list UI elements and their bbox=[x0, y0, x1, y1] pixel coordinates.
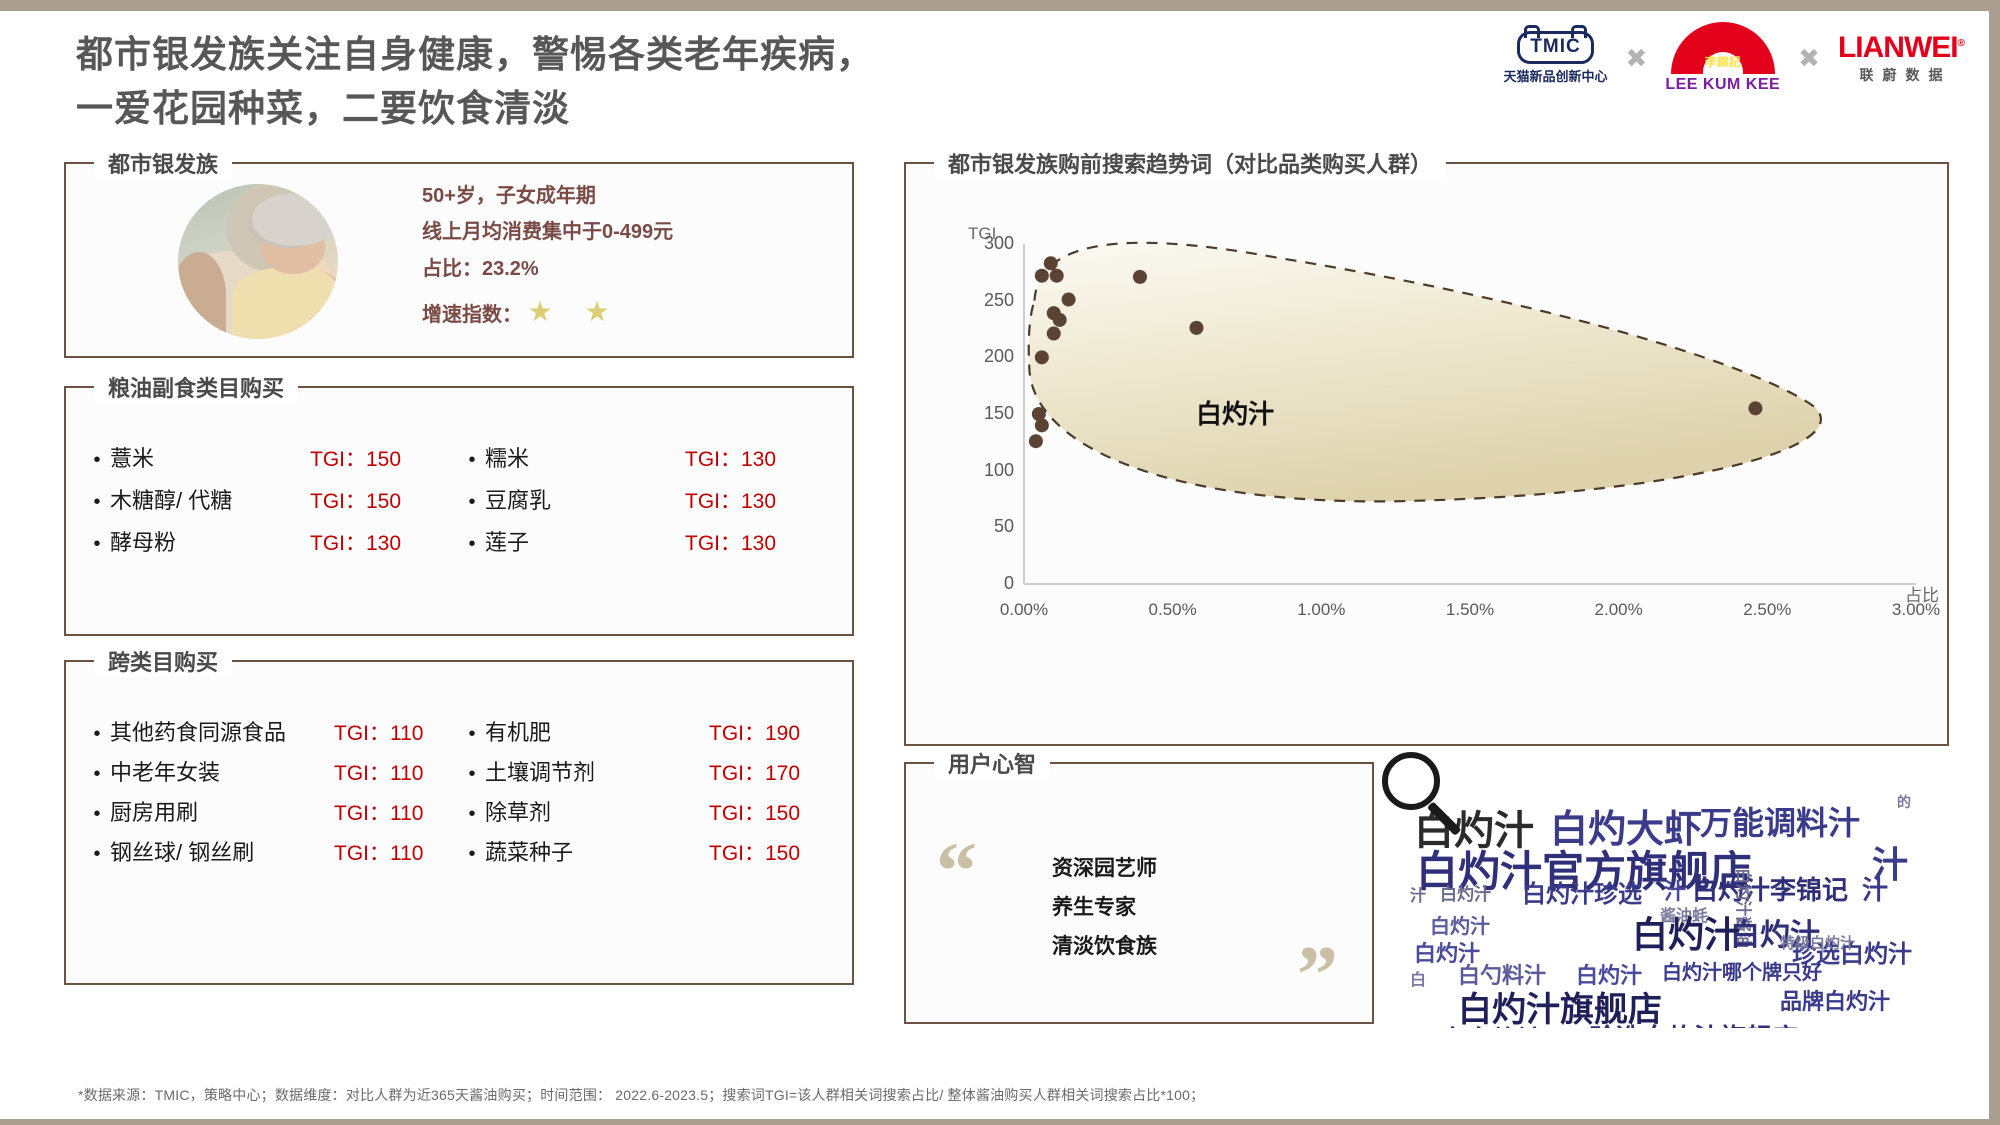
grain-category-panel: 粮油副食类目购买 •薏米TGI：150•木糖醇/ 代糖TGI：150•酵母粉TG… bbox=[64, 386, 854, 636]
item-tgi-value: TGI：150 bbox=[310, 491, 401, 512]
cloud-word: 白灼汁哪个牌只好 bbox=[1662, 956, 1822, 985]
list-item: •有机肥TGI：190 bbox=[459, 722, 834, 744]
scatter-point bbox=[1062, 293, 1076, 307]
bottom-frame-bar bbox=[0, 1119, 2000, 1125]
right-frame-bar bbox=[1989, 0, 2000, 1125]
lee-kum-kee-logo: 李錦記 LEE KUM KEE bbox=[1665, 22, 1780, 94]
bubble-region-label: 白灼汁 bbox=[1196, 394, 1274, 431]
item-name: 钢丝球/ 钢丝刷 bbox=[110, 842, 334, 864]
cloud-word: 白 bbox=[1410, 966, 1426, 990]
list-item: •糯米TGI：130 bbox=[459, 448, 834, 470]
y-axis-tick: 100 bbox=[968, 460, 1014, 481]
title-line-2: 一爱花园种菜，二要饮食清淡 bbox=[76, 82, 1176, 136]
x-axis-tick: 0.50% bbox=[1128, 600, 1218, 620]
scatter-chart: TGI 占比 白灼汁 050100150200250300 0.00%0.50%… bbox=[906, 216, 1947, 736]
item-tgi-value: TGI：110 bbox=[334, 723, 423, 744]
item-name: 中老年女装 bbox=[110, 762, 334, 784]
item-tgi-value: TGI：110 bbox=[334, 803, 423, 824]
bullet-icon: • bbox=[84, 764, 110, 784]
item-tgi-value: TGI：110 bbox=[334, 763, 423, 784]
lianwei-chinese-name: 联蔚数据 bbox=[1859, 65, 1951, 85]
item-tgi-value: TGI：130 bbox=[685, 449, 776, 470]
cloud-word: 汁 bbox=[1862, 870, 1888, 907]
cloud-word: 特级白灼汁 bbox=[1780, 932, 1855, 953]
bullet-icon: • bbox=[84, 492, 110, 512]
item-tgi-value: TGI：170 bbox=[709, 763, 800, 784]
bullet-icon: • bbox=[84, 844, 110, 864]
profile-details: 50+岁，子女成年期 线上月均消费集中于0-499元 占比：23.2% 增速指数… bbox=[422, 178, 673, 338]
item-name: 有机肥 bbox=[485, 722, 709, 744]
item-name: 木糖醇/ 代糖 bbox=[110, 490, 310, 512]
list-item: •木糖醇/ 代糖TGI：150 bbox=[84, 490, 459, 512]
x-axis-tick: 0.00% bbox=[979, 600, 1069, 620]
item-tgi-value: TGI：150 bbox=[709, 843, 800, 864]
y-axis-tick: 250 bbox=[968, 290, 1014, 311]
grain-left-column: •薏米TGI：150•木糖醇/ 代糖TGI：150•酵母粉TGI：130 bbox=[84, 448, 459, 634]
lianwei-wordmark: LIANWEI® bbox=[1838, 31, 1964, 65]
chart-panel-title: 都市银发族购前搜索趋势词（对比品类购买人群） bbox=[934, 147, 1446, 179]
list-item: •土壤调节剂TGI：170 bbox=[459, 762, 834, 784]
item-tgi-value: TGI：130 bbox=[685, 491, 776, 512]
scatter-point bbox=[1047, 327, 1061, 341]
y-axis-tick: 50 bbox=[968, 516, 1014, 537]
bullet-icon: • bbox=[84, 724, 110, 744]
cloud-word: 的 bbox=[1897, 792, 1911, 812]
item-tgi-value: TGI：130 bbox=[310, 533, 401, 554]
x-axis-tick: 2.00% bbox=[1574, 600, 1664, 620]
growth-star-rating: ★ ★ bbox=[528, 296, 622, 327]
lkk-chinese-name: 李錦記 bbox=[1705, 53, 1741, 70]
search-trend-chart-panel: 都市银发族购前搜索趋势词（对比品类购买人群） TGI 占比 白灼汁 050100… bbox=[904, 162, 1949, 746]
bubble-region bbox=[1029, 243, 1821, 502]
item-name: 其他药食同源食品 bbox=[110, 722, 334, 744]
cloud-word: 白灼汁珍选 bbox=[1522, 874, 1642, 909]
mindset-line: 养生专家 bbox=[1052, 889, 1157, 928]
word-cloud: 白灼汁白灼大虾万能调料汁的白灼汁官方旗舰店汁汁白灼汁白灼汁珍选汁白灼汁李锦记汁白… bbox=[1400, 770, 1948, 1028]
scatter-point bbox=[1133, 270, 1147, 284]
cloud-word: 正宗白灼汁 bbox=[1414, 1020, 1544, 1028]
lkk-arch-icon: 李錦記 bbox=[1671, 22, 1775, 74]
item-name: 薏米 bbox=[110, 448, 310, 470]
cloud-word: 品牌白灼汁 bbox=[1780, 984, 1890, 1016]
multiply-icon-2: ✖ bbox=[1798, 43, 1820, 74]
profile-share-line: 占比：23.2% bbox=[422, 251, 673, 287]
user-mindset-panel: 用户心智 “ ” 资深园艺师养生专家清淡饮食族 bbox=[904, 762, 1374, 1024]
list-item: •除草剂TGI：150 bbox=[459, 802, 834, 824]
cloud-word: 白灼汁 bbox=[1440, 880, 1491, 905]
scatter-point bbox=[1035, 350, 1049, 364]
multiply-icon-1: ✖ bbox=[1626, 43, 1648, 74]
bullet-icon: • bbox=[84, 450, 110, 470]
top-frame-bar bbox=[0, 0, 2000, 11]
item-tgi-value: TGI：110 bbox=[334, 843, 423, 864]
list-item: •豆腐乳TGI：130 bbox=[459, 490, 834, 512]
item-tgi-value: TGI：190 bbox=[709, 723, 800, 744]
chart-canvas bbox=[906, 216, 1951, 636]
cloud-word: 珍选白灼汁旗舰店 bbox=[1590, 1018, 1798, 1028]
cloud-word: 白灼汁李锦记 bbox=[1692, 870, 1848, 907]
bullet-icon: • bbox=[459, 764, 485, 784]
item-name: 糯米 bbox=[485, 448, 685, 470]
profile-growth-row: 增速指数： ★ ★ bbox=[422, 287, 673, 338]
y-axis-tick: 200 bbox=[968, 346, 1014, 367]
magnifier-icon bbox=[1382, 752, 1474, 844]
cross-right-column: •有机肥TGI：190•土壤调节剂TGI：170•除草剂TGI：150•蔬菜种子… bbox=[459, 722, 834, 983]
cloud-word: 白灼汁 bbox=[1430, 910, 1490, 939]
bullet-icon: • bbox=[459, 450, 485, 470]
list-item: •蔬菜种子TGI：150 bbox=[459, 842, 834, 864]
list-item: •其他药食同源食品TGI：110 bbox=[84, 722, 459, 744]
scatter-point bbox=[1044, 256, 1058, 270]
item-name: 莲子 bbox=[485, 532, 685, 554]
mindset-line: 资深园艺师 bbox=[1052, 850, 1157, 889]
quote-open-icon: “ bbox=[936, 830, 977, 912]
scatter-point bbox=[1035, 269, 1049, 283]
scatter-point bbox=[1189, 321, 1203, 335]
lkk-english-name: LEE KUM KEE bbox=[1665, 76, 1780, 94]
x-axis-tick: 3.00% bbox=[1871, 600, 1961, 620]
y-axis-tick: 300 bbox=[968, 233, 1014, 254]
scatter-point bbox=[1050, 269, 1064, 283]
y-axis-tick: 150 bbox=[968, 403, 1014, 424]
item-tgi-value: TGI：150 bbox=[310, 449, 401, 470]
list-item: •薏米TGI：150 bbox=[84, 448, 459, 470]
item-name: 豆腐乳 bbox=[485, 490, 685, 512]
grain-right-column: •糯米TGI：130•豆腐乳TGI：130•莲子TGI：130 bbox=[459, 448, 834, 634]
quote-close-icon: ” bbox=[1297, 934, 1338, 1016]
cross-category-panel: 跨类目购买 •其他药食同源食品TGI：110•中老年女装TGI：110•厨房用刷… bbox=[64, 660, 854, 985]
list-item: •莲子TGI：130 bbox=[459, 532, 834, 554]
bullet-icon: • bbox=[459, 724, 485, 744]
bullet-icon: • bbox=[459, 844, 485, 864]
item-name: 土壤调节剂 bbox=[485, 762, 709, 784]
mindset-line: 清淡饮食族 bbox=[1052, 928, 1157, 967]
scatter-point bbox=[1053, 313, 1067, 327]
x-axis-tick: 1.00% bbox=[1276, 600, 1366, 620]
tmic-logo: TMIC 天猫新品创新中心 bbox=[1504, 31, 1608, 85]
scatter-point bbox=[1029, 434, 1043, 448]
list-item: •中老年女装TGI：110 bbox=[84, 762, 459, 784]
x-axis-tick: 2.50% bbox=[1722, 600, 1812, 620]
tmic-label: 天猫新品创新中心 bbox=[1504, 66, 1608, 85]
profile-age-line: 50+岁，子女成年期 bbox=[422, 178, 673, 214]
mindset-lines: 资深园艺师养生专家清淡饮食族 bbox=[1052, 850, 1157, 967]
cloud-word: 白灼汁 bbox=[1632, 906, 1740, 958]
scatter-point bbox=[1748, 401, 1762, 415]
x-axis-tick: 1.50% bbox=[1425, 600, 1515, 620]
item-name: 除草剂 bbox=[485, 802, 709, 824]
list-item: •酵母粉TGI：130 bbox=[84, 532, 459, 554]
item-name: 蔬菜种子 bbox=[485, 842, 709, 864]
profile-card: 都市银发族 50+岁，子女成年期 线上月均消费集中于0-499元 占比：23.2… bbox=[64, 162, 854, 358]
y-axis-tick: 0 bbox=[968, 573, 1014, 594]
item-tgi-value: TGI：130 bbox=[685, 533, 776, 554]
cloud-word: 汁 bbox=[1410, 882, 1426, 906]
bullet-icon: • bbox=[459, 804, 485, 824]
lianwei-logo: LIANWEI® 联蔚数据 bbox=[1838, 31, 1964, 85]
tmic-mark: TMIC bbox=[1517, 31, 1593, 64]
mindset-panel-title: 用户心智 bbox=[934, 747, 1050, 779]
growth-index-label: 增速指数： bbox=[422, 304, 522, 326]
item-name: 厨房用刷 bbox=[110, 802, 334, 824]
title-line-1: 都市银发族关注自身健康，警惕各类老年疾病， bbox=[76, 28, 1176, 82]
bullet-icon: • bbox=[84, 804, 110, 824]
list-item: •钢丝球/ 钢丝刷TGI：110 bbox=[84, 842, 459, 864]
avatar bbox=[178, 184, 338, 339]
list-item: •厨房用刷TGI：110 bbox=[84, 802, 459, 824]
footnote: *数据来源：TMIC，策略中心；数据维度：对比人群为近365天酱油购买；时间范围… bbox=[78, 1085, 1204, 1105]
item-name: 酵母粉 bbox=[110, 532, 310, 554]
item-tgi-value: TGI：150 bbox=[709, 803, 800, 824]
page-title: 都市银发族关注自身健康，警惕各类老年疾病， 一爱花园种菜，二要饮食清淡 bbox=[76, 28, 1176, 135]
logo-bar: TMIC 天猫新品创新中心 ✖ 李錦記 LEE KUM KEE ✖ LIANWE… bbox=[1504, 22, 1964, 94]
scatter-point bbox=[1035, 418, 1049, 432]
bullet-icon: • bbox=[459, 492, 485, 512]
profile-panel-title: 都市银发族 bbox=[94, 147, 232, 179]
cross-left-column: •其他药食同源食品TGI：110•中老年女装TGI：110•厨房用刷TGI：11… bbox=[84, 722, 459, 983]
bullet-icon: • bbox=[84, 534, 110, 554]
bullet-icon: • bbox=[459, 534, 485, 554]
profile-spend-line: 线上月均消费集中于0-499元 bbox=[422, 214, 673, 250]
